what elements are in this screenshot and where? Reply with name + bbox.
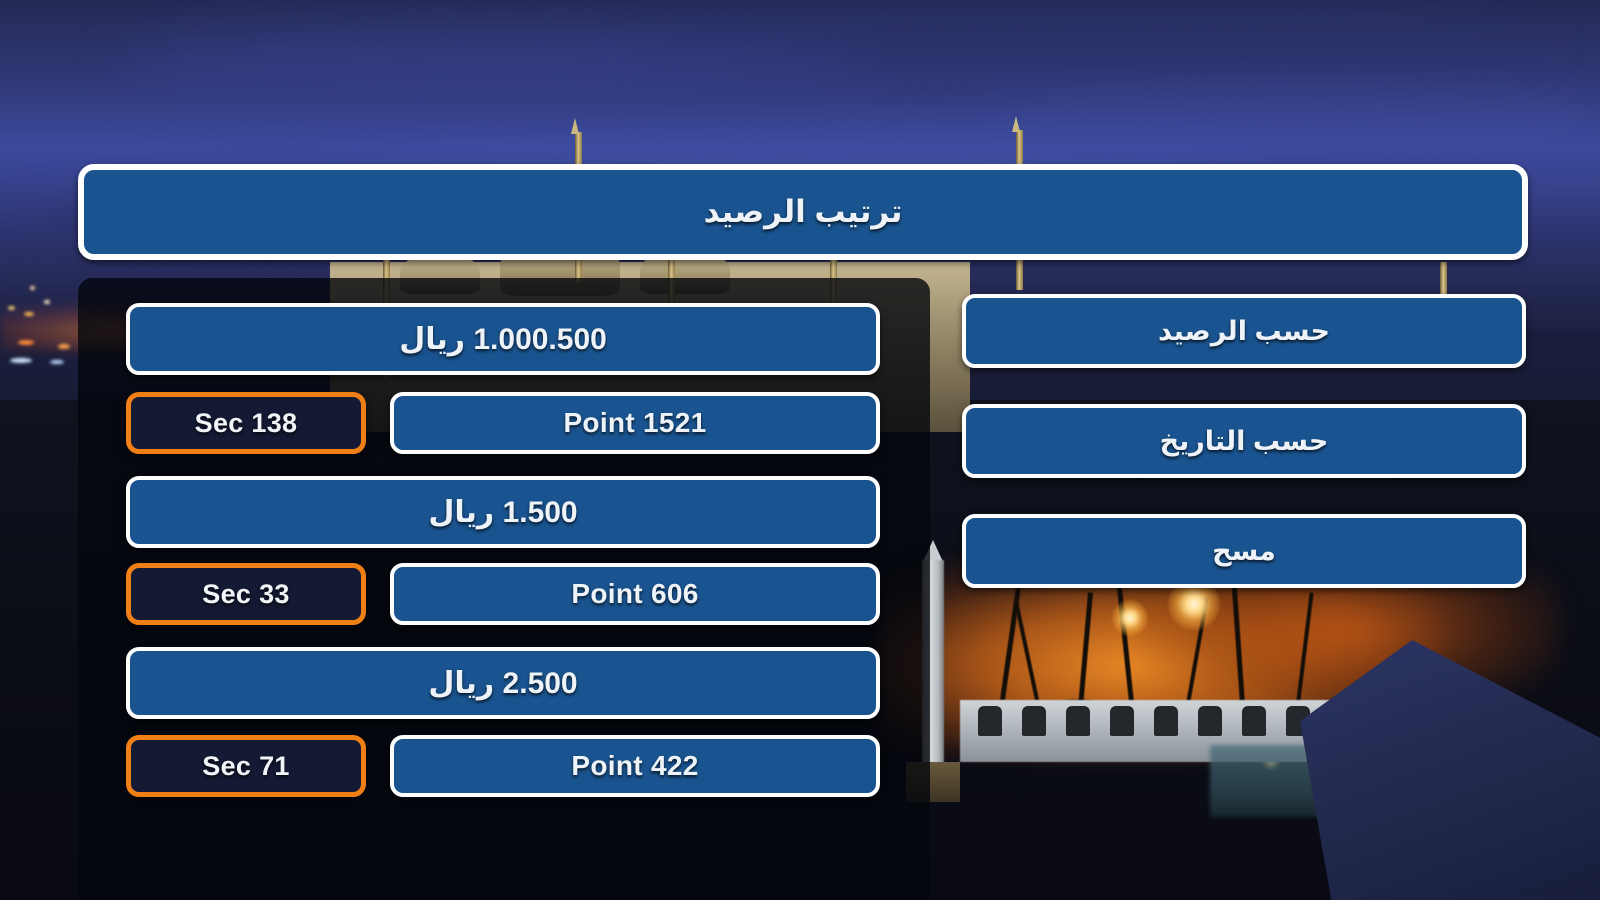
app-root: ترتيب الرصيد 1.000.500 ريال 138 Sec 1521…	[0, 0, 1600, 900]
colonnade-arch	[1154, 706, 1178, 736]
minaret-tip	[571, 118, 579, 134]
city-light	[24, 312, 34, 316]
cloud-band	[640, 8, 1540, 66]
score-time[interactable]: 138 Sec	[126, 392, 366, 454]
street-lamp	[1112, 600, 1148, 636]
score-balance[interactable]: 1.000.500 ريال	[126, 303, 880, 375]
score-time[interactable]: 71 Sec	[126, 735, 366, 797]
sidebar-item-sort-by-balance[interactable]: حسب الرصيد	[962, 294, 1526, 368]
sidebar-item-sort-by-date[interactable]: حسب التاريخ	[962, 404, 1526, 478]
colonnade-arch	[978, 706, 1002, 736]
city-light	[44, 300, 50, 304]
city-light	[18, 340, 34, 345]
score-balance[interactable]: 1.500 ريال	[126, 476, 880, 548]
colonnade-arch	[1242, 706, 1266, 736]
minaret-tip	[1012, 116, 1020, 132]
cloud-band	[980, 96, 1600, 146]
colonnade-arch	[1066, 706, 1090, 736]
city-light	[30, 286, 35, 290]
city-light	[50, 360, 64, 364]
colonnade-arch	[1022, 706, 1046, 736]
city-light	[10, 358, 32, 363]
sidebar-item-clear[interactable]: مسح	[962, 514, 1526, 588]
score-balance[interactable]: 2.500 ريال	[126, 647, 880, 719]
score-points[interactable]: 1521 Point	[390, 392, 880, 454]
colonnade-arch	[1198, 706, 1222, 736]
colonnade-arch	[1110, 706, 1134, 736]
city-light	[58, 344, 70, 349]
score-points[interactable]: 422 Point	[390, 735, 880, 797]
score-points[interactable]: 606 Point	[390, 563, 880, 625]
score-time[interactable]: 33 Sec	[126, 563, 366, 625]
page-title: ترتيب الرصيد	[78, 164, 1528, 260]
city-light	[8, 306, 15, 310]
